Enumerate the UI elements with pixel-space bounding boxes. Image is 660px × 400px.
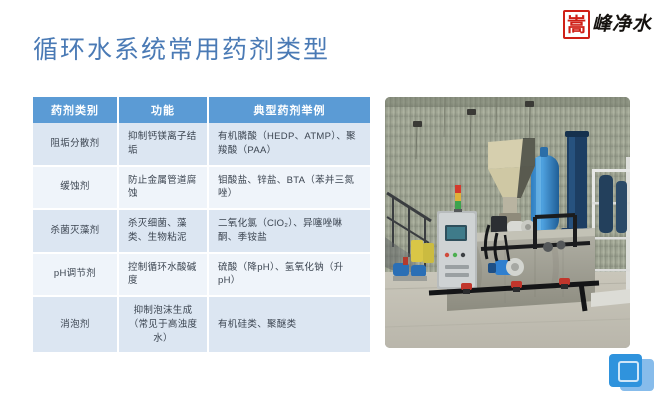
cell-function: 防止金属管道腐蚀 [118,166,208,210]
cell-category: 缓蚀剂 [33,166,118,210]
seal-icon: 嵩 [563,10,590,39]
equipment-photo-graphic [385,97,630,348]
cell-examples: 硫酸（降pH）、氢氧化钠（升pH） [208,253,370,297]
chemical-types-table: 药剂类别 功能 典型药剂举例 阻垢分散剂 抑制钙镁离子结垢 有机膦酸（HEDP、… [33,97,370,354]
cell-function: 控制循环水酸碱度 [118,253,208,297]
cell-examples: 二氧化氯（ClO₂）、异噻唑啉酮、季铵盐 [208,209,370,253]
brand-name: 峰净水 [592,10,652,39]
cell-function: 抑制泡沫生成（常见于高浊度水） [118,296,208,353]
brand-logo: 嵩 峰净水 [563,7,652,41]
cell-category: pH调节剂 [33,253,118,297]
cell-category: 消泡剂 [33,296,118,353]
table-row: 缓蚀剂 防止金属管道腐蚀 钼酸盐、锌盐、BTA（苯并三氮唑） [33,166,370,210]
slide: 嵩 峰净水 循环水系统常用药剂类型 药剂类别 功能 典型药剂举例 阻垢分散剂 抑… [0,0,660,400]
cell-category: 阻垢分散剂 [33,123,118,166]
table-row: pH调节剂 控制循环水酸碱度 硫酸（降pH）、氢氧化钠（升pH） [33,253,370,297]
cell-function: 杀灭细菌、藻类、生物粘泥 [118,209,208,253]
decorative-square-outline [618,361,639,382]
table-header-row: 药剂类别 功能 典型药剂举例 [33,97,370,123]
decorative-square-front [609,354,642,387]
decorative-squares [606,353,656,395]
cell-examples: 有机硅类、聚醚类 [208,296,370,353]
column-header-category: 药剂类别 [33,97,118,123]
table-row: 消泡剂 抑制泡沫生成（常见于高浊度水） 有机硅类、聚醚类 [33,296,370,353]
equipment-photo [385,97,630,348]
table-row: 杀菌灭藻剂 杀灭细菌、藻类、生物粘泥 二氧化氯（ClO₂）、异噻唑啉酮、季铵盐 [33,209,370,253]
cell-function: 抑制钙镁离子结垢 [118,123,208,166]
column-header-function: 功能 [118,97,208,123]
cell-examples: 钼酸盐、锌盐、BTA（苯并三氮唑） [208,166,370,210]
column-header-examples: 典型药剂举例 [208,97,370,123]
cell-category: 杀菌灭藻剂 [33,209,118,253]
page-title: 循环水系统常用药剂类型 [33,30,330,66]
table-row: 阻垢分散剂 抑制钙镁离子结垢 有机膦酸（HEDP、ATMP）、聚羧酸（PAA） [33,123,370,166]
cell-examples: 有机膦酸（HEDP、ATMP）、聚羧酸（PAA） [208,123,370,166]
